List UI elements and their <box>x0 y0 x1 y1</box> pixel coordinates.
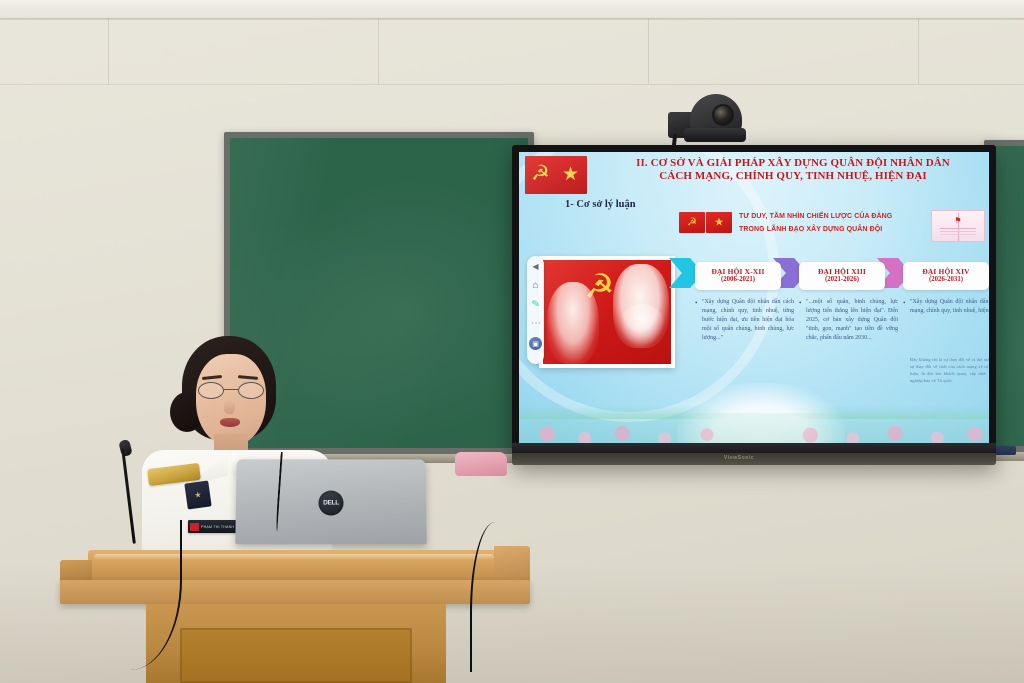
glasses-lens-left <box>198 382 224 399</box>
presenter-mouth <box>220 418 240 427</box>
timeline-body-3: • "Xây dựng Quân đội nhân dân cách mạng,… <box>910 298 989 316</box>
glasses-bridge <box>224 389 238 390</box>
more-options-icon[interactable]: ⋯ <box>530 318 542 330</box>
lectern-front-panel <box>180 628 412 683</box>
presenter-nose <box>224 400 235 414</box>
bullet-icon: • <box>799 298 801 309</box>
slide-title-line2: CÁCH MẠNG, CHÍNH QUY, TINH NHUỆ, HIỆN ĐẠ… <box>593 170 989 183</box>
party-flag-icon: ☭ <box>679 212 705 233</box>
open-book-icon: ⚑ <box>931 210 985 242</box>
ribbon-line1: TƯ DUY, TẦM NHÌN CHIẾN LƯỢC CỦA ĐẢNG <box>739 210 910 223</box>
national-flag-icon: ★ <box>706 212 732 233</box>
display-bottom-bezel: ViewSonic <box>512 443 996 465</box>
slide-title-line1: II. CƠ SỞ VÀ GIẢI PHÁP XÂY DỰNG QUÂN ĐỘI… <box>593 157 989 170</box>
annotate-icon[interactable]: ▣ <box>529 337 542 350</box>
timeline-header-1-years: (2006-2021) <box>721 276 755 284</box>
wall-panel-line <box>918 18 919 84</box>
wall-seam-upper <box>0 18 1024 19</box>
star-icon: ★ <box>562 165 579 184</box>
dell-logo: DELL <box>318 491 343 516</box>
strategic-vision-ribbon: ☭ ★ TƯ DUY, TẦM NHÌN CHIẾN LƯỢC CỦA ĐẢNG… <box>679 210 985 246</box>
timeline-body-2-text: "...một số quân, binh chủng, lực lượng t… <box>806 299 898 341</box>
hammer-sickle-icon: ☭ <box>687 217 697 228</box>
timeline-header-3: ĐẠI HỘI XIV (2026-2031) <box>903 262 989 290</box>
pen-icon[interactable]: ✎ <box>529 298 543 312</box>
camera-lens-icon <box>712 104 734 126</box>
book-emblem-icon: ⚑ <box>954 216 961 225</box>
book-text-lines <box>940 228 976 229</box>
insignia-icon: ★ <box>194 490 202 500</box>
camera-base <box>684 128 746 142</box>
ho-chi-minh-portrait <box>547 282 599 364</box>
ceiling-band <box>0 0 1024 20</box>
classroom-scene: ☭ ★ II. CƠ SỞ VÀ GIẢI PHÁP XÂY DỰNG QUÂN… <box>0 0 1024 683</box>
pink-cloth-prop <box>455 452 507 476</box>
glasses-lens-right <box>238 382 264 399</box>
flower-band-decoration <box>519 413 989 443</box>
timeline-header-2-title: ĐẠI HỘI XIII <box>818 268 866 277</box>
timeline-body-2: • "...một số quân, binh chủng, lực lượng… <box>806 298 898 343</box>
display-side-toolbar[interactable]: ◀ ⌂ ✎ ⋯ ▣ <box>527 256 544 364</box>
timeline-body-1-text: "Xây dựng Quân đội nhân dân cách mạng, c… <box>702 299 794 341</box>
shoulder-patch-left: ★ <box>184 480 211 509</box>
interactive-display[interactable]: ☭ ★ II. CƠ SỞ VÀ GIẢI PHÁP XÂY DỰNG QUÂN… <box>512 145 996 465</box>
ribbon-text: TƯ DUY, TẦM NHÌN CHIẾN LƯỢC CỦA ĐẢNG TRO… <box>739 210 910 235</box>
timeline-body-3-text: "Xây dựng Quân đội nhân dân cách mạng, c… <box>910 299 989 314</box>
wall-panel-line <box>648 18 649 84</box>
back-arrow-icon[interactable]: ◀ <box>530 261 542 273</box>
bullet-icon: • <box>695 298 697 309</box>
timeline-header-2-years: (2021-2026) <box>825 276 859 284</box>
ptz-camera <box>668 88 752 150</box>
ribbon-line2: TRONG LÃNH ĐẠO XÂY DỰNG QUÂN ĐỘI <box>739 223 910 236</box>
star-icon: ★ <box>714 217 724 228</box>
timeline-header-3-title: ĐẠI HỘI XIV <box>922 268 969 277</box>
display-brand-logo: ViewSonic <box>724 455 754 461</box>
party-national-flag-graphic: ☭ ★ <box>525 156 587 194</box>
timeline-header-1: ĐẠI HỘI X-XII (2006-2021) <box>695 262 781 290</box>
slide-title: II. CƠ SỞ VÀ GIẢI PHÁP XÂY DỰNG QUÂN ĐỘI… <box>593 157 989 184</box>
timeline-header-3-years: (2026-2031) <box>929 276 963 284</box>
timeline-header-2: ĐẠI HỘI XIII (2021-2026) <box>799 262 885 290</box>
hammer-sickle-icon: ☭ <box>531 163 550 184</box>
wall-panel-line <box>378 18 379 84</box>
timeline-body-1: • "Xây dựng Quân đội nhân dân cách mạng,… <box>702 298 794 343</box>
ribbon-flags: ☭ ★ <box>679 212 733 236</box>
home-icon[interactable]: ⌂ <box>530 280 542 292</box>
display-screen[interactable]: ☭ ★ II. CƠ SỞ VÀ GIẢI PHÁP XÂY DỰNG QUÂN… <box>519 152 989 443</box>
lenin-beard <box>619 304 665 346</box>
bullet-icon: • <box>903 298 905 309</box>
timeline-header-1-title: ĐẠI HỘI X-XII <box>711 268 764 277</box>
wall-seam-lower <box>0 84 1024 85</box>
leader-portrait-image: ☭ <box>543 260 671 364</box>
slide-subtitle: 1- Cơ sở lý luận <box>565 199 636 210</box>
glasses-icon <box>198 382 264 399</box>
timeline-note-3: Đây không chỉ là sự thay đổi về vị thế m… <box>910 357 989 409</box>
leader-portrait-card: ☭ <box>539 256 675 368</box>
wall-panel-line <box>108 18 109 84</box>
